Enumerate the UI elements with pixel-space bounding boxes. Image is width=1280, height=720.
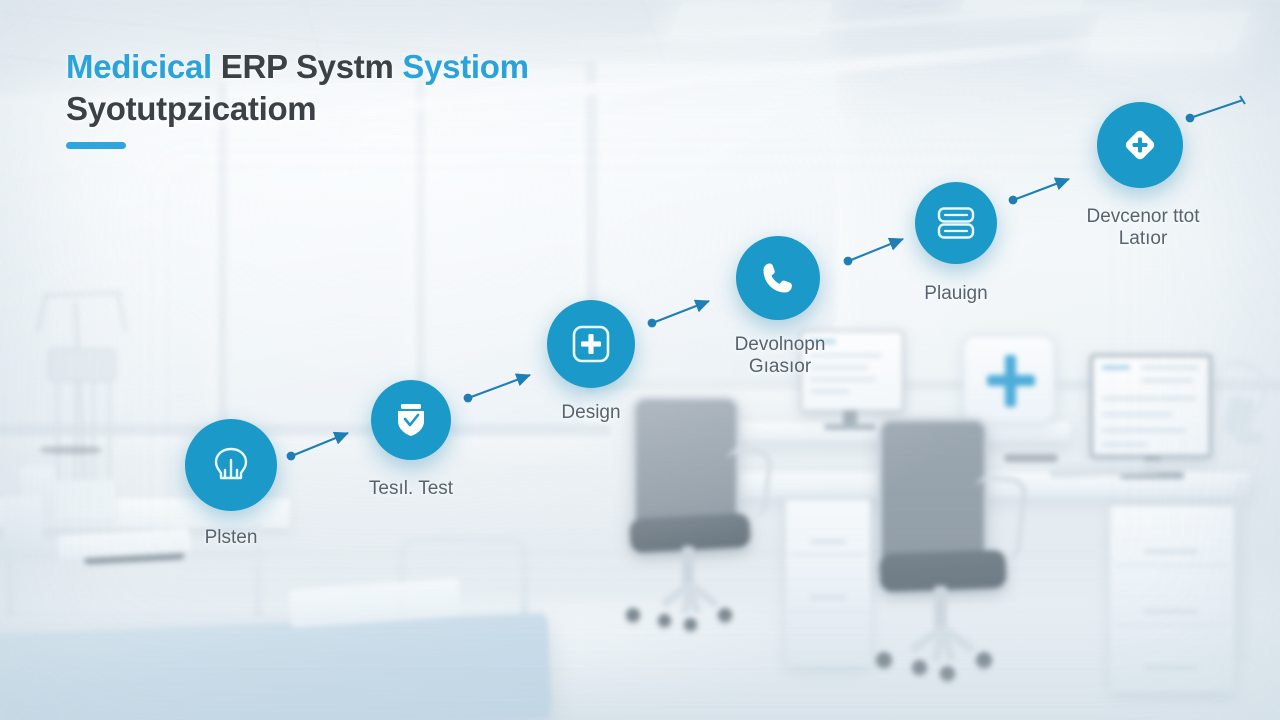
phone-icon (759, 259, 797, 297)
infographic-overlay: Medicical ERP Systm Systiom Syotutpzicat… (0, 0, 1280, 720)
arrow-4 (844, 239, 903, 265)
step-4-label-line1: Devolnopn (735, 334, 826, 355)
step-1-label: Plsten (205, 527, 258, 549)
step-3-circle[interactable] (547, 300, 635, 388)
step-2-circle[interactable] (371, 380, 451, 460)
step-5-circle[interactable] (915, 182, 997, 264)
step-6-label: Devcenor ttot Latıor (1087, 206, 1200, 250)
step-4-label-line2: Gıasıor (735, 356, 826, 378)
arrow-6 (1186, 96, 1245, 122)
step-2-label-line1: Tesıl. Test (369, 478, 453, 499)
step-5-label: Plauign (924, 283, 987, 305)
step-6-label-line2: Latıor (1087, 228, 1200, 250)
step-6-label-line1: Devcenor ttot (1087, 206, 1200, 227)
step-5-label-line1: Plauign (924, 283, 987, 304)
arrow-3 (648, 301, 709, 327)
step-3-label: Design (561, 402, 620, 424)
arrow-1 (287, 433, 348, 460)
shield-check-icon (394, 402, 428, 438)
step-4-circle[interactable] (736, 236, 820, 320)
step-4-label: Devolnopn Gıasıor (735, 334, 826, 378)
connector-arrows (0, 0, 1280, 720)
medical-plus-square-icon (570, 323, 612, 365)
diamond-plus-icon (1120, 125, 1160, 165)
step-1-label-line1: Plsten (205, 527, 258, 548)
step-2-label: Tesıl. Test (369, 478, 453, 500)
step-1-circle[interactable] (185, 419, 277, 511)
arrow-2 (464, 375, 530, 402)
step-6-circle[interactable] (1097, 102, 1183, 188)
arrow-5 (1009, 179, 1069, 204)
layers-database-icon (936, 206, 976, 240)
lightbulb-icon (211, 444, 251, 486)
infographic-canvas: Medicical ERP Systm Systiom Syotutpzicat… (0, 0, 1280, 720)
step-3-label-line1: Design (561, 402, 620, 423)
